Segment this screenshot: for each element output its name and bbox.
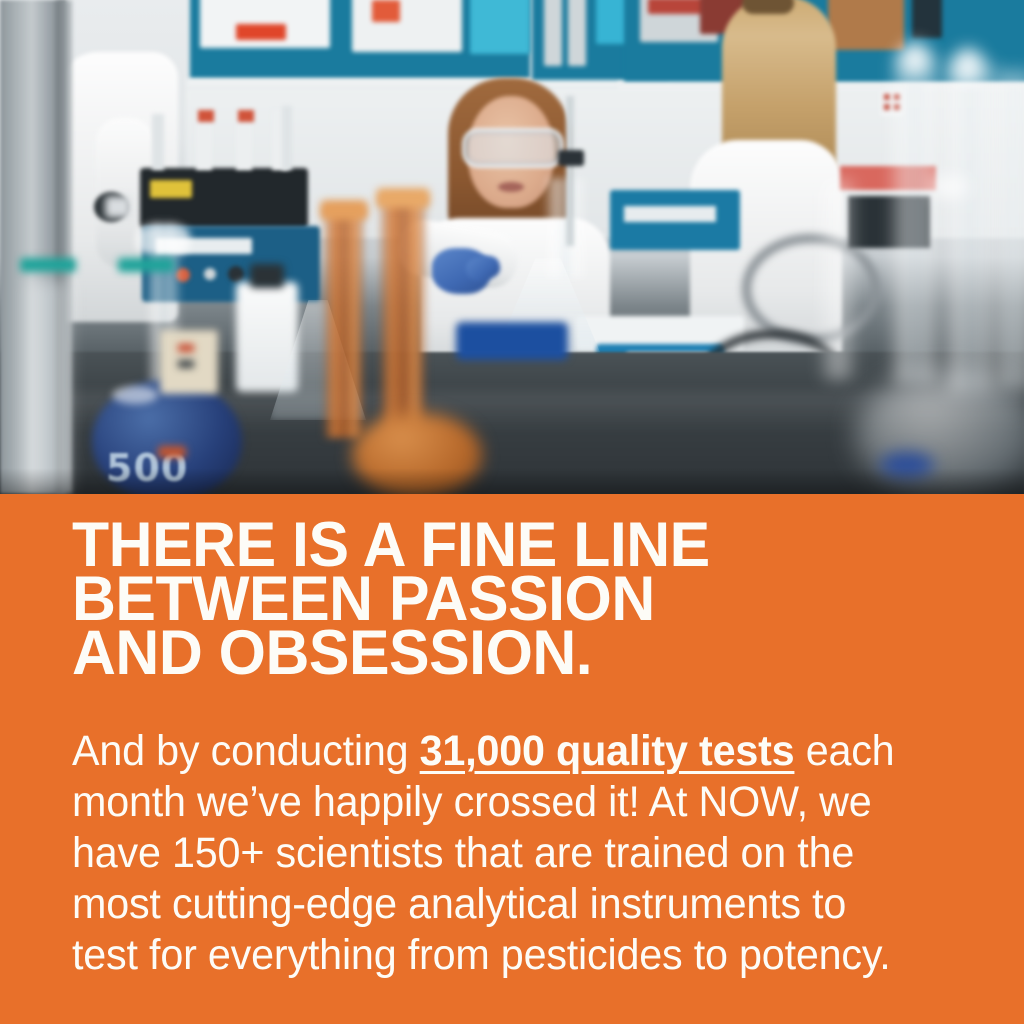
body-copy: And by conducting 31,000 quality tests e… xyxy=(72,726,905,981)
safety-goggles xyxy=(462,128,564,168)
headline-text: THERE IS A FINE LINE BETWEEN PASSION AND… xyxy=(72,518,941,680)
photo-bottom-shadow xyxy=(0,468,1024,494)
body-copy-emphasis: 31,000 quality tests xyxy=(420,727,795,775)
ad-creative-canvas: 500 xyxy=(0,0,1024,1024)
glass-column-mid-right xyxy=(820,180,856,380)
retort-stand-rod xyxy=(566,96,574,246)
coiled-tubing xyxy=(742,234,880,344)
orange-message-panel: THERE IS A FINE LINE BETWEEN PASSION AND… xyxy=(0,494,1024,1024)
body-copy-before: And by conducting xyxy=(72,727,420,775)
laboratory-photo: 500 xyxy=(0,0,1024,494)
glass-cylinder-far-left xyxy=(26,280,72,494)
